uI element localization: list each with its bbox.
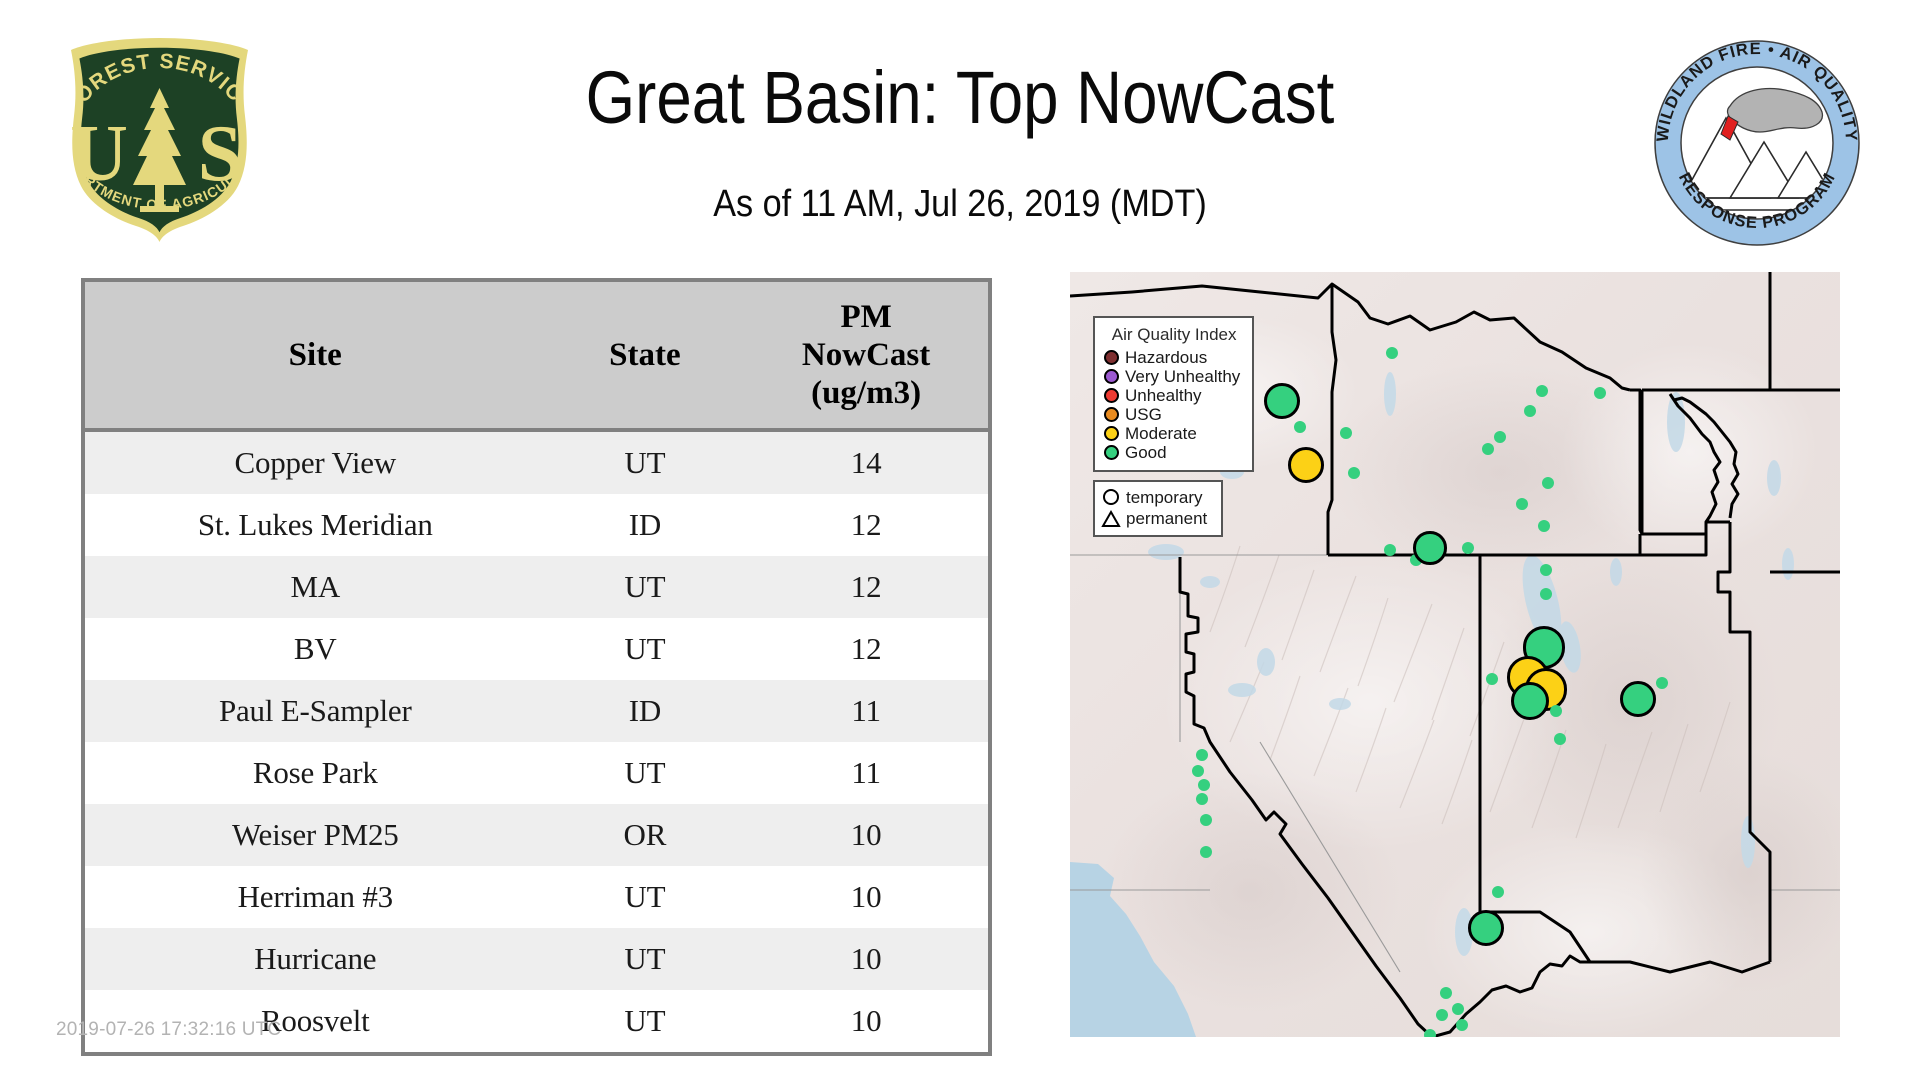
monitor-site-marker[interactable] [1462, 542, 1474, 554]
monitor-site-marker[interactable] [1436, 1009, 1448, 1021]
monitor-site-marker[interactable] [1413, 531, 1447, 565]
cell-state: UT [546, 556, 745, 618]
monitor-site-marker[interactable] [1294, 421, 1306, 433]
table-row: Paul E-SamplerID11 [85, 680, 988, 742]
column-header-site: Site [85, 282, 546, 430]
monitor-site-marker[interactable] [1192, 765, 1204, 777]
cell-pm-nowcast-value: 12 [744, 556, 988, 618]
table-header-row: Site State PM NowCast (ug/m3) [85, 282, 988, 430]
cell-state: OR [546, 804, 745, 866]
table-row: Rose ParkUT11 [85, 742, 988, 804]
monitor-site-marker[interactable] [1482, 443, 1494, 455]
monitor-site-marker[interactable] [1288, 447, 1324, 483]
monitor-site-marker[interactable] [1516, 498, 1528, 510]
cell-pm-nowcast-value: 14 [744, 430, 988, 494]
monitor-site-marker[interactable] [1524, 405, 1536, 417]
cell-pm-nowcast-value: 10 [744, 990, 988, 1052]
table-row: BVUT12 [85, 618, 988, 680]
cell-state: UT [546, 618, 745, 680]
monitor-marker-layer [1070, 272, 1840, 1037]
monitor-site-marker[interactable] [1538, 520, 1550, 532]
monitor-site-marker[interactable] [1200, 846, 1212, 858]
monitor-site-marker[interactable] [1196, 793, 1208, 805]
monitor-site-marker[interactable] [1540, 564, 1552, 576]
monitor-site-marker[interactable] [1196, 749, 1208, 761]
cell-pm-nowcast-value: 11 [744, 680, 988, 742]
cell-site-name: Paul E-Sampler [85, 680, 546, 742]
monitor-site-marker[interactable] [1468, 910, 1504, 946]
cell-pm-nowcast-value: 10 [744, 928, 988, 990]
cell-state: UT [546, 866, 745, 928]
great-basin-map[interactable]: Air Quality Index HazardousVery Unhealth… [1070, 272, 1840, 1037]
monitor-site-marker[interactable] [1620, 681, 1656, 717]
us-forest-service-logo: U S FOREST SERVICE DEPARTMENT OF AGRICUL… [52, 30, 267, 245]
monitor-site-marker[interactable] [1264, 383, 1300, 419]
monitor-site-marker[interactable] [1550, 705, 1562, 717]
monitor-site-marker[interactable] [1594, 387, 1606, 399]
cell-site-name: Hurricane [85, 928, 546, 990]
cell-pm-nowcast-value: 10 [744, 866, 988, 928]
table-row: HurricaneUT10 [85, 928, 988, 990]
nowcast-table: Site State PM NowCast (ug/m3) Copper Vie… [81, 278, 992, 1056]
cell-pm-nowcast-value: 11 [744, 742, 988, 804]
page-title: Great Basin: Top NowCast [375, 55, 1545, 141]
pm-header-line-2: NowCast [750, 336, 982, 374]
cell-site-name: Weiser PM25 [85, 804, 546, 866]
pm-header-line-1: PM [750, 298, 982, 336]
monitor-site-marker[interactable] [1456, 1019, 1468, 1031]
cell-pm-nowcast-value: 12 [744, 618, 988, 680]
monitor-site-marker[interactable] [1536, 385, 1548, 397]
cell-site-name: St. Lukes Meridian [85, 494, 546, 556]
monitor-site-marker[interactable] [1494, 431, 1506, 443]
cell-state: UT [546, 990, 745, 1052]
table-row: Weiser PM25OR10 [85, 804, 988, 866]
monitor-site-marker[interactable] [1486, 673, 1498, 685]
monitor-site-marker[interactable] [1554, 733, 1566, 745]
cell-state: UT [546, 742, 745, 804]
wildland-fire-air-quality-logo: WILDLAND FIRE • AIR QUALITY RESPONSE PRO… [1652, 38, 1862, 248]
column-header-pm-nowcast: PM NowCast (ug/m3) [744, 282, 988, 430]
table-row: St. Lukes MeridianID12 [85, 494, 988, 556]
monitor-site-marker[interactable] [1540, 588, 1552, 600]
cell-site-name: BV [85, 618, 546, 680]
cell-site-name: MA [85, 556, 546, 618]
table-row: Herriman #3UT10 [85, 866, 988, 928]
monitor-site-marker[interactable] [1424, 1029, 1436, 1037]
cell-state: UT [546, 928, 745, 990]
monitor-site-marker[interactable] [1340, 427, 1352, 439]
monitor-site-marker[interactable] [1542, 477, 1554, 489]
column-header-state: State [546, 282, 745, 430]
monitor-site-marker[interactable] [1452, 1003, 1464, 1015]
pm-header-line-3: (ug/m3) [750, 374, 982, 412]
monitor-site-marker[interactable] [1348, 467, 1360, 479]
cell-site-name: Copper View [85, 430, 546, 494]
monitor-site-marker[interactable] [1656, 677, 1668, 689]
monitor-site-marker[interactable] [1440, 987, 1452, 999]
cell-state: ID [546, 494, 745, 556]
cell-state: UT [546, 430, 745, 494]
cell-pm-nowcast-value: 12 [744, 494, 988, 556]
wfaqrp-seal-icon: WILDLAND FIRE • AIR QUALITY RESPONSE PRO… [1652, 38, 1862, 248]
monitor-site-marker[interactable] [1384, 544, 1396, 556]
cell-pm-nowcast-value: 10 [744, 804, 988, 866]
monitor-site-marker[interactable] [1511, 682, 1549, 720]
monitor-site-marker[interactable] [1200, 814, 1212, 826]
cell-state: ID [546, 680, 745, 742]
monitor-site-marker[interactable] [1198, 779, 1210, 791]
monitor-site-marker[interactable] [1492, 886, 1504, 898]
table-row: MAUT12 [85, 556, 988, 618]
monitor-site-marker[interactable] [1386, 347, 1398, 359]
usfs-shield-icon: U S FOREST SERVICE DEPARTMENT OF AGRICUL… [52, 30, 267, 245]
cell-site-name: Herriman #3 [85, 866, 546, 928]
table-row: Copper ViewUT14 [85, 430, 988, 494]
page-subtitle: As of 11 AM, Jul 26, 2019 (MDT) [348, 182, 1572, 226]
cell-site-name: Rose Park [85, 742, 546, 804]
generated-timestamp: 2019-07-26 17:32:16 UTC [56, 1019, 281, 1041]
